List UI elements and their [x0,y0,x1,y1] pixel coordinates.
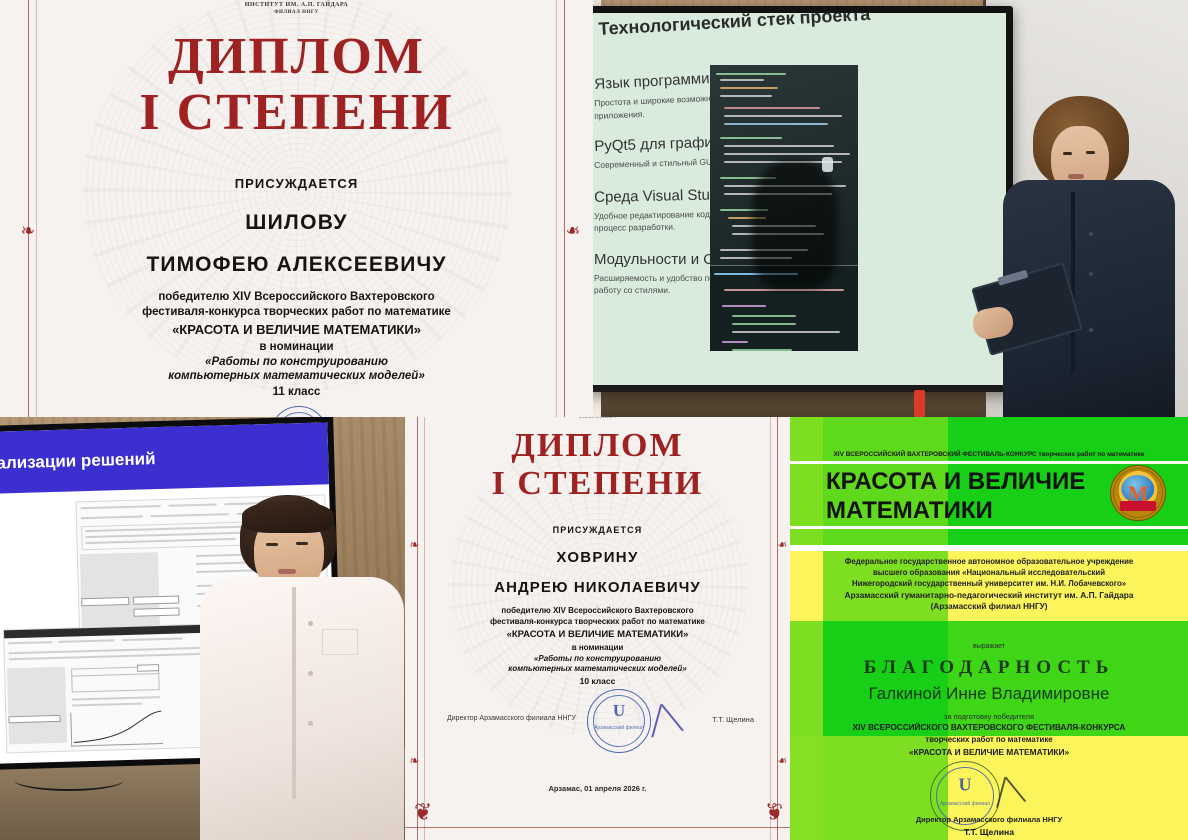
certificate-big-line2: МАТЕМАТИКИ [826,497,993,525]
diploma2-body-line2: фестиваля-конкурса творческих работ по м… [405,617,790,626]
diploma-header-line2: ИНСТИТУТ ИМ. А.П. ГАЙДАРА [0,2,593,8]
certificate-reason-line2: XIV ВСЕРОССИЙСКОГО ВАХТЕРОВСКОГО ФЕСТИВА… [790,723,1188,732]
diploma2-nomination-line2: компьютерных математических моделей» [405,664,790,673]
certificate-org-line3: Нижегородский государственный университе… [790,579,1188,588]
code-screenshot [710,65,858,351]
certificate-expresses-label: выражает [790,643,1188,650]
seal-text-2: Арзамасский филиал [594,725,644,731]
diploma2-given-name: АНДРЕЮ НИКОЛАЕВИЧУ [405,579,790,596]
official-seal-2: U Арзамасский филиал [587,689,651,753]
diploma2-header: ФИЛИАЛ ННГУ [405,417,790,420]
diploma2-awarded-label: ПРИСУЖДАЕТСЯ [405,525,790,535]
band-white-3b [790,545,1188,551]
presenter-figure [985,96,1175,417]
ornament2-bl-icon: ❧ [410,755,420,768]
certificate-reason-line3: творческих работ по математике [790,735,1188,744]
slide-text-3b: процесс разработки. [594,222,675,233]
diploma-hovrin-panel: ❧ ❧ ❧ ❧ ❦ ❦ ФИЛИАЛ ННГУ ДИПЛОМ I СТЕПЕНИ… [405,417,790,840]
certificate-recipient: Галкиной Инне Владимировне [790,684,1188,704]
diploma-body-line2: фестиваля-конкурса творческих работ по м… [0,306,593,318]
column-left-top [790,417,823,551]
photo-collage: ❧ ❧ АРЗАМАССКИЙ ГУМАНИТАРНО-ПЕДАГОГИЧЕСК… [0,0,1188,840]
certificate-org-line1: Федеральное государственное автономное о… [790,557,1188,566]
student-figure [196,495,404,840]
diploma-header-line3: ФИЛИАЛ ННГУ [0,10,593,15]
gratitude-certificate-panel: XIV ВСЕРОССИЙСКИЙ ВАХТЕРОВСКИЙ ФЕСТИВАЛЬ… [790,417,1188,840]
interactive-panel-display: Технологический стек проекта Язык програ… [593,6,1013,392]
diploma2-grade: 10 класс [405,676,790,686]
diploma-awarded-label: ПРИСУЖДАЕТСЯ [0,176,593,191]
diploma-grade: 11 класс [0,386,593,398]
certificate-award-word: БЛАГОДАРНОСТЬ [790,657,1188,679]
slide-text-1b: приложения. [594,109,645,121]
certificate-org-line2: высшего образования «Национальный исслед… [790,568,1188,577]
marker-pen [914,390,925,417]
handwritten-signature-2: ╱╲ [991,774,1025,808]
diploma2-nomination-line1: «Работы по конструированию [405,654,790,663]
handwritten-signature: ╱╲ [646,702,683,738]
diploma-given-name: ТИМОФЕЮ АЛЕКСЕЕВИЧУ [0,253,593,277]
slide-text-4b: работу со стилями. [594,285,670,295]
diploma-header-line1: АРЗАМАССКИЙ ГУМАНИТАРНО-ПЕДАГОГИЧЕСКИЙ [0,0,593,1]
diploma-surname: ШИЛОВУ [0,211,593,235]
certificate-reason-line1: за подготовку победителя [790,712,1188,721]
certificate-signature-name: Т.Т. Щелина [790,827,1188,837]
festival-emblem-icon: M [1110,465,1166,521]
diploma2-body-line1: победителю XIV Всероссийского Вахтеровск… [405,606,790,615]
band-green-thin-right [948,529,1188,545]
certificate-kicker: XIV ВСЕРОССИЙСКИЙ ВАХТЕРОВСКИЙ ФЕСТИВАЛЬ… [790,451,1188,458]
diploma-nomination-line2: компьютерных математических моделей» [0,370,593,382]
student-photo-panel: ...ализации решений [0,417,405,840]
certificate-signature-role: Директор Арзамасского филиала ННГУ [790,815,1188,824]
diploma2-signature-name: Т.Т. Щелина [712,715,754,724]
certificate-big-line1: КРАСОТА И ВЕЛИЧИЕ [826,468,1085,496]
certificate-org-line5: (Арзамасский филиал ННГУ) [790,602,1188,611]
power-cable [14,769,124,791]
diploma-title-line1: ДИПЛОМ [0,27,593,86]
presentation-photo-panel: Технологический стек проекта Язык програ… [593,0,1188,417]
white-shirt [200,577,404,840]
diploma-body-line1: победителю XIV Всероссийского Вахтеровск… [0,291,593,303]
slide-title: Технологический стек проекта [598,13,939,40]
diploma2-nomination-label: в номинации [405,643,790,652]
diploma2-surname: ХОВРИНУ [405,549,790,566]
seal-letter-2: U [613,701,625,721]
diploma2-border-bottom [405,827,790,828]
seal-letter-3: U [959,775,972,796]
diploma2-signature-role: Директор Арзамасского филиала ННГУ [447,715,576,722]
certificate-reason-line4: «КРАСОТА И ВЕЛИЧИЕ МАТЕМАТИКИ» [790,747,1188,757]
diploma2-title-line2: I СТЕПЕНИ [405,465,790,503]
diploma-header: АРЗАМАССКИЙ ГУМАНИТАРНО-ПЕДАГОГИЧЕСКИЙ И… [0,0,593,15]
ornament2-corner-br-icon: ❦ [765,800,783,824]
display-bezel [593,385,1013,392]
diploma2-place-date: Арзамас, 01 апреля 2026 г. [405,784,790,793]
ornament2-br-icon: ❧ [778,755,788,768]
certificate-org-line4: Арзамасский гуманитарно-педагогический и… [790,590,1188,600]
diploma-contest-name: «КРАСОТА И ВЕЛИЧИЕ МАТЕМАТИКИ» [0,322,593,337]
slide-surface: Технологический стек проекта Язык програ… [593,13,1006,385]
diploma2-title-line1: ДИПЛОМ [405,427,790,465]
seal-text-3: Арзамасский филиал [940,801,990,807]
diploma-nomination-label: в номинации [0,341,593,353]
diploma2-contest-name: «КРАСОТА И ВЕЛИЧИЕ МАТЕМАТИКИ» [405,629,790,640]
ornament2-corner-bl-icon: ❦ [414,800,432,824]
diploma-shilov-panel: ❧ ❧ АРЗАМАССКИЙ ГУМАНИТАРНО-ПЕДАГОГИЧЕСК… [0,0,593,417]
diploma-title-line2: I СТЕПЕНИ [0,83,593,142]
diploma-nomination-line1: «Работы по конструированию [0,356,593,368]
